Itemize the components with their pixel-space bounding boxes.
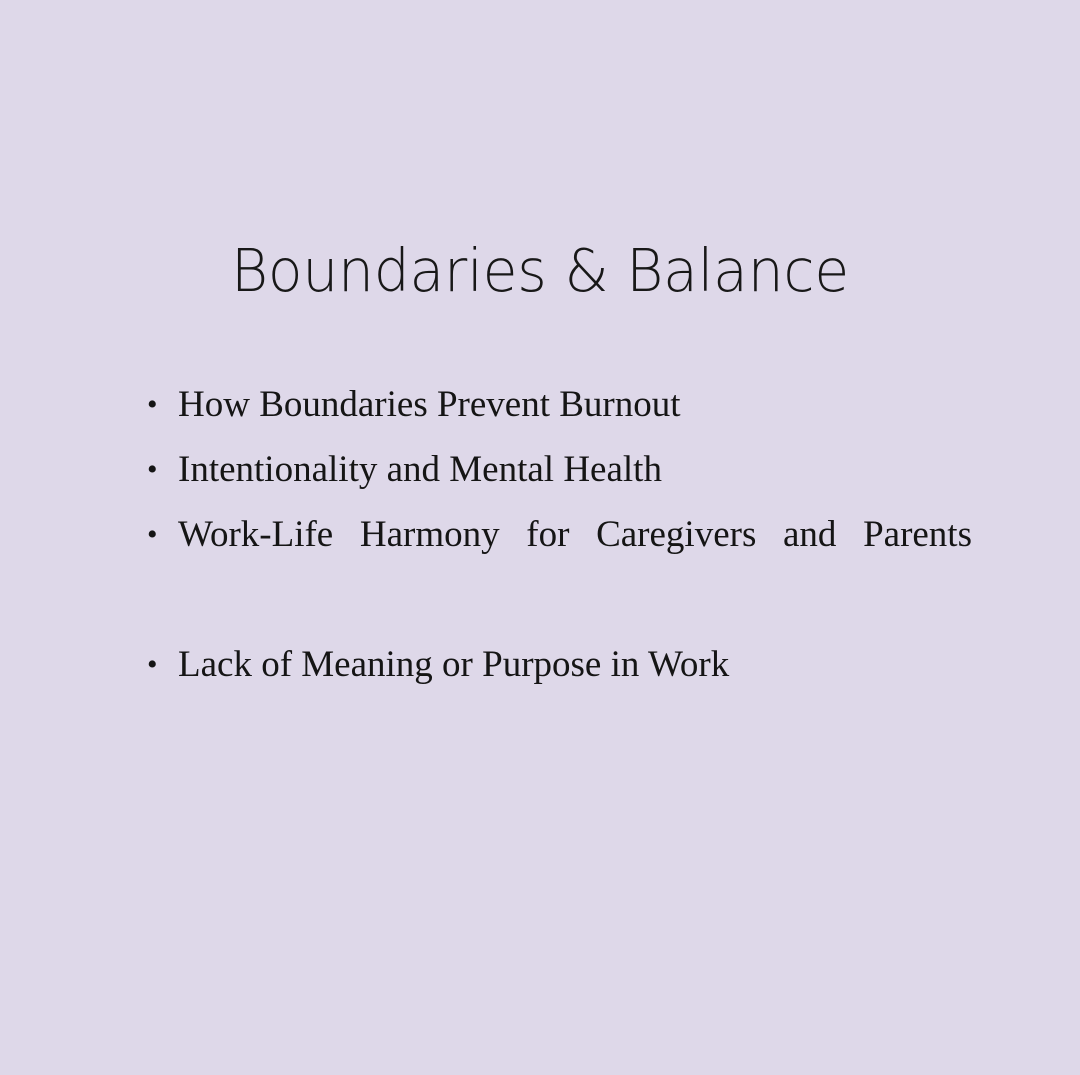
bullet-dot-icon: • [147,372,167,437]
bullet-dot-icon: • [147,502,167,567]
list-item-label: Work-Life Harmony for Caregivers and Par… [178,502,972,632]
bullet-dot-icon: • [147,632,167,697]
list-item: • Intentionality and Mental Health [147,437,972,502]
list-item: • How Boundaries Prevent Burnout [147,372,972,437]
list-item-label: Intentionality and Mental Health [178,437,972,502]
list-item-label: Lack of Meaning or Purpose in Work [178,632,972,697]
slide-canvas: Boundaries & Balance • How Boundaries Pr… [0,0,1080,1075]
list-item-label: How Boundaries Prevent Burnout [178,372,972,437]
page-title: Boundaries & Balance [22,236,1059,306]
list-item: • Lack of Meaning or Purpose in Work [147,632,972,697]
bullet-list: • How Boundaries Prevent Burnout • Inten… [147,372,972,697]
list-item: • Work-Life Harmony for Caregivers and P… [147,502,972,632]
bullet-dot-icon: • [147,437,167,502]
